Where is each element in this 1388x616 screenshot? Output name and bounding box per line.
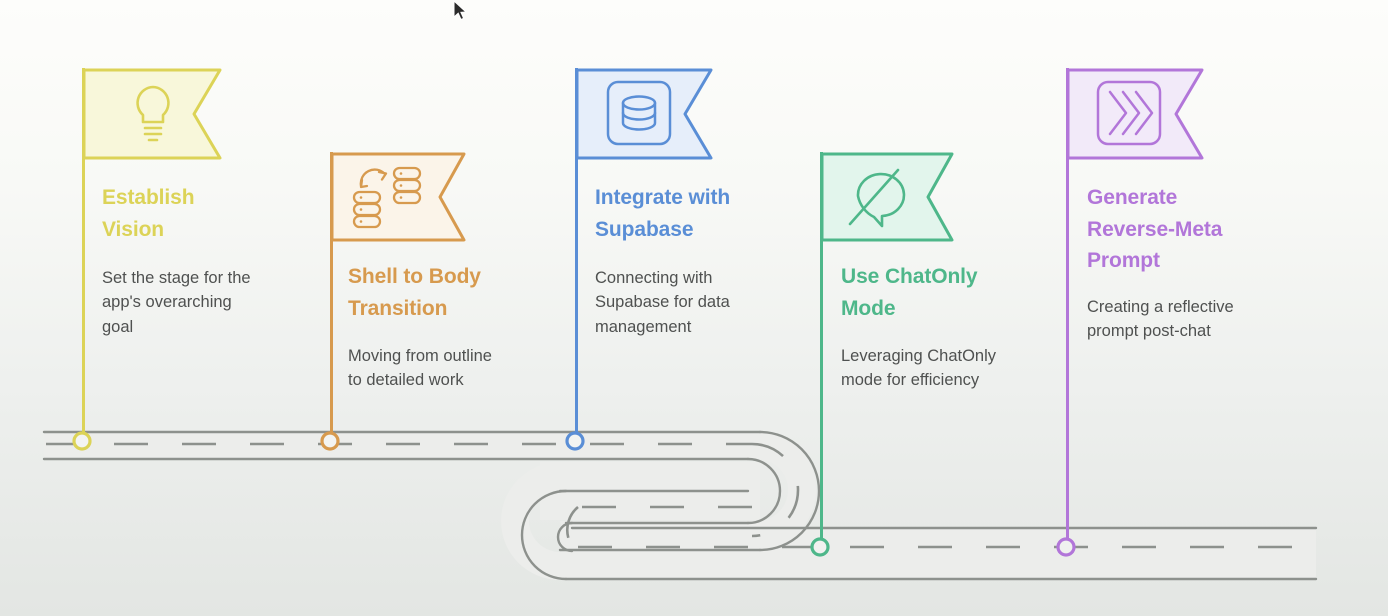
milestone-flag[interactable] [1066,68,1206,160]
milestone-flag[interactable] [820,152,956,242]
milestone-description: Creating a reflective prompt post-chat [1087,295,1297,344]
milestone-title: Establish Vision [102,182,292,245]
milestone-title: Integrate with Supabase [595,182,815,245]
milestone-flag[interactable] [330,152,468,242]
milestone-description: Leveraging ChatOnly mode for efficiency [841,344,1061,393]
milestone-title: Shell to Body Transition [348,261,568,324]
roadmap-diagram: Establish Vision Set the stage for the a… [0,0,1388,616]
milestone-flag[interactable] [82,68,224,160]
mouse-cursor [452,0,470,24]
milestone-description: Moving from outline to detailed work [348,344,558,393]
milestone-description: Set the stage for the app's overarching … [102,266,302,339]
milestone-title: Use ChatOnly Mode [841,261,1061,324]
milestone-flag[interactable] [575,68,715,160]
milestone-description: Connecting with Supabase for data manage… [595,266,795,339]
road-surface [44,431,1316,580]
milestone-title: Generate Reverse-Meta Prompt [1087,182,1327,277]
